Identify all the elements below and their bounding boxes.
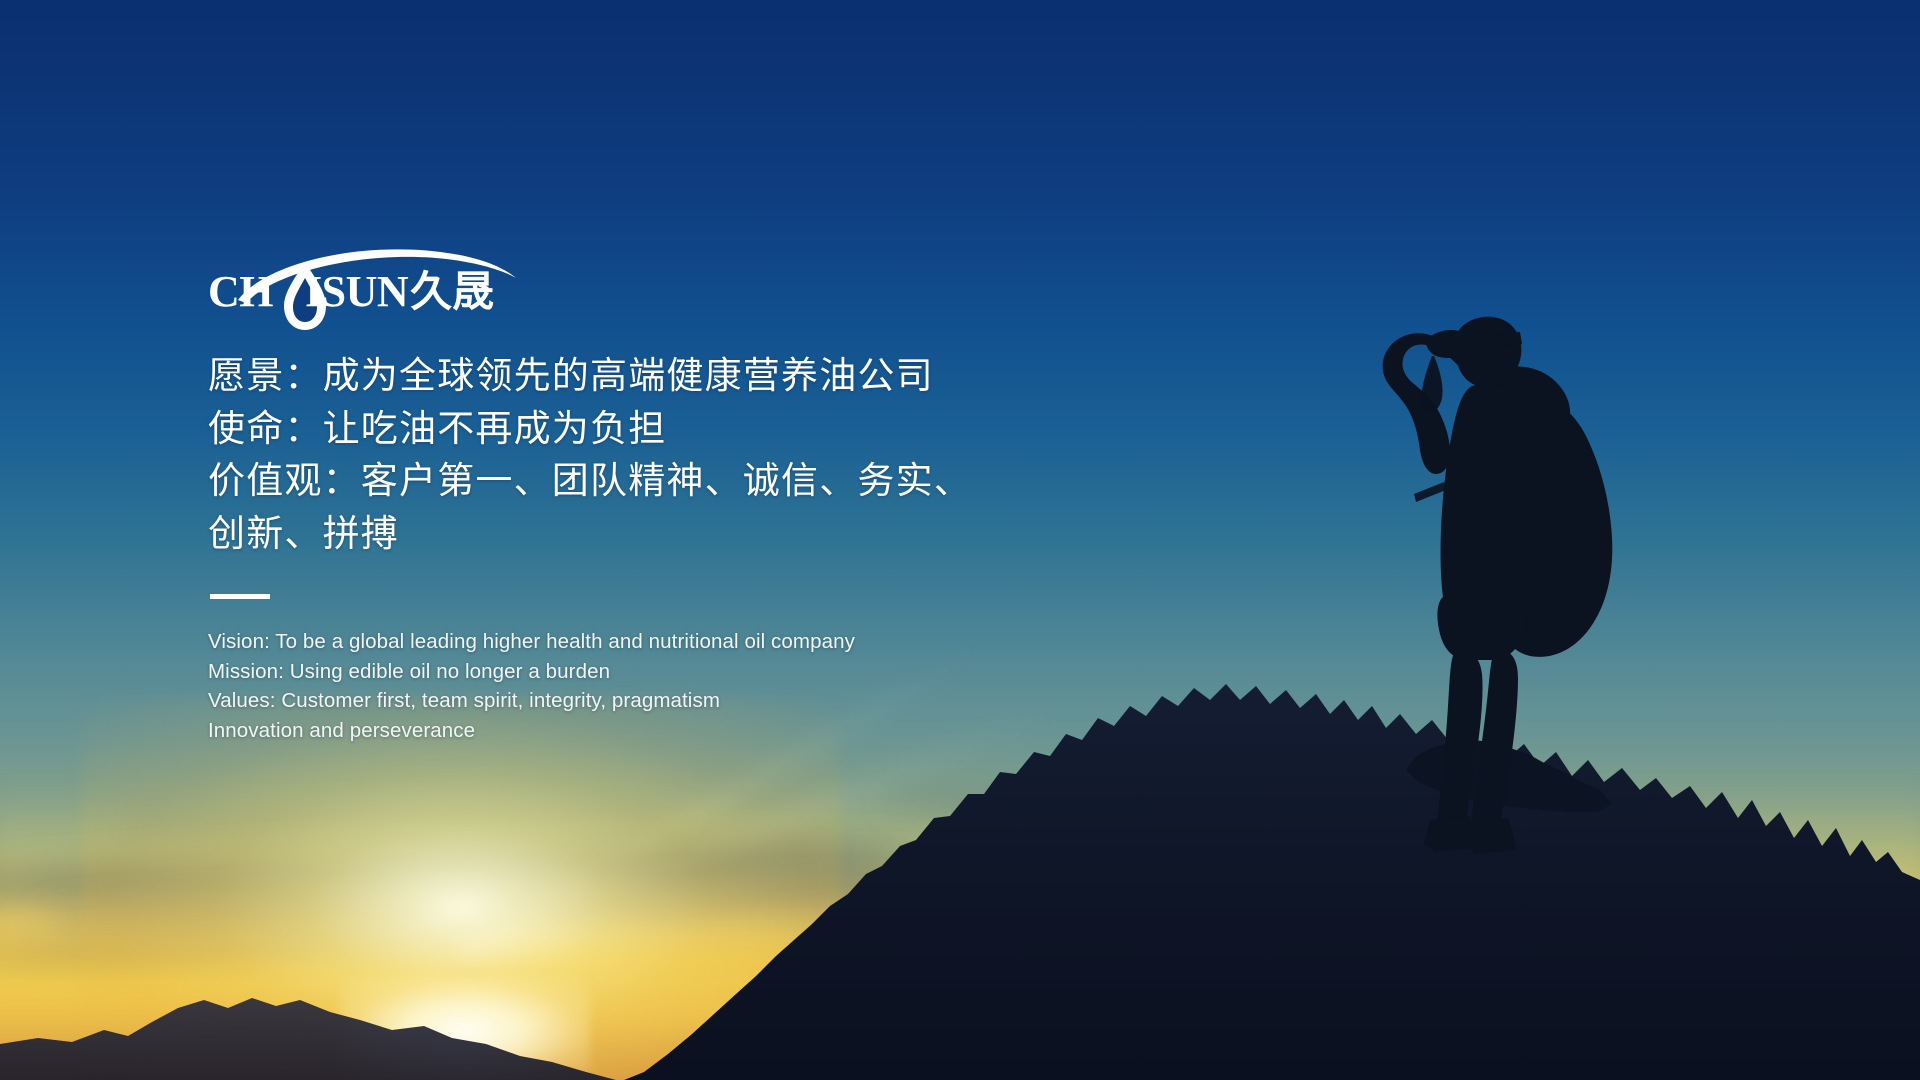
mountain-ridge-icon xyxy=(0,998,616,1080)
values-line-en-cont: Innovation and perseverance xyxy=(208,716,1168,746)
values-line-en: Values: Customer first, team spirit, int… xyxy=(208,686,1168,716)
slide-canvas: CHISUN久晟 愿景：成为全球领先的高端健康营养油公司 使命：让吃油不再成为负… xyxy=(0,0,1920,1080)
english-statement-block: Vision: To be a global leading higher he… xyxy=(208,627,1168,745)
values-line-zh-cont: 创新、拼搏 xyxy=(208,508,1168,561)
mission-line-zh: 使命：让吃油不再成为负担 xyxy=(208,403,1168,456)
vision-line-zh: 愿景：成为全球领先的高端健康营养油公司 xyxy=(208,350,1168,403)
mission-line-en: Mission: Using edible oil no longer a bu… xyxy=(208,657,1168,687)
chinese-statement-block: 愿景：成为全球领先的高端健康营养油公司 使命：让吃油不再成为负担 价值观：客户第… xyxy=(208,350,1168,560)
vision-line-en: Vision: To be a global leading higher he… xyxy=(208,627,1168,657)
brand-logo[interactable]: CHISUN久晟 xyxy=(208,248,548,326)
section-divider xyxy=(210,594,270,599)
brand-letters-after-o: ISUN xyxy=(305,267,408,316)
content-block: CHISUN久晟 愿景：成为全球领先的高端健康营养油公司 使命：让吃油不再成为负… xyxy=(208,248,1168,745)
brand-name-cn: 久晟 xyxy=(410,270,494,316)
values-line-zh: 价值观：客户第一、团队精神、诚信、务实、 xyxy=(208,455,1168,508)
brand-letters-before-o: CH xyxy=(208,267,273,316)
brand-wordmark: CHISUN久晟 xyxy=(208,270,494,314)
